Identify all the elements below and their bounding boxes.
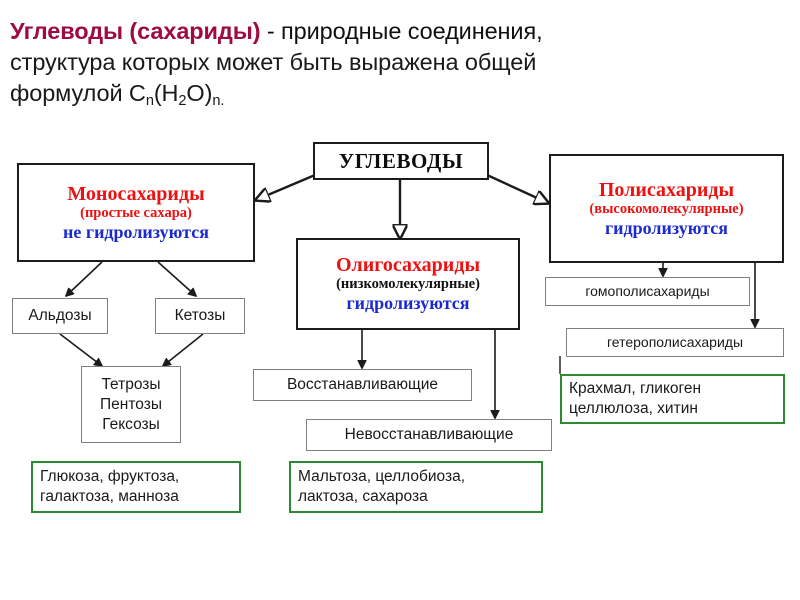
examples-oligosaccharides[interactable]: Мальтоза, целлобиоза, лактоза, сахароза bbox=[289, 461, 543, 513]
node-heteropolysaccharides[interactable]: гетерополисахариды bbox=[566, 328, 784, 357]
node-aldoses-label: Альдозы bbox=[28, 306, 91, 326]
formula-sub-n1: n bbox=[146, 93, 154, 109]
node-mono-title: Моносахариды bbox=[67, 183, 204, 205]
node-tetrose-pentose-hexose[interactable]: Тетрозы Пентозы Гексозы bbox=[81, 366, 181, 443]
node-oligosaccharides[interactable]: Олигосахариды (низкомолекулярные) гидрол… bbox=[296, 238, 520, 330]
formula-mid-1: (H bbox=[154, 80, 179, 106]
formula-sub-n2: n. bbox=[212, 93, 224, 109]
title-body-2: структура которых может быть выражена об… bbox=[10, 47, 792, 78]
page-title: Углеводы (сахариды) - природные соединен… bbox=[10, 16, 792, 113]
link-root-to-poly bbox=[487, 175, 548, 203]
node-hexose-label: Гексозы bbox=[102, 415, 160, 435]
node-oligo-subtitle: (низкомолекулярные) bbox=[336, 276, 480, 293]
formula-sub-2: 2 bbox=[178, 93, 186, 109]
title-keyword: Углеводы (сахариды) bbox=[10, 18, 260, 44]
examples-oligo-line-1: Мальтоза, целлобиоза, bbox=[298, 467, 465, 487]
node-mono-subtitle: (простые сахара) bbox=[80, 205, 192, 222]
link-aldozy-to-tetro bbox=[60, 334, 102, 366]
node-oligo-title: Олигосахариды bbox=[336, 254, 480, 276]
node-ketoses-label: Кетозы bbox=[175, 306, 226, 326]
examples-poly-line-2: целлюлоза, хитин bbox=[569, 399, 698, 419]
node-carbohydrates-root[interactable]: УГЛЕВОДЫ bbox=[313, 142, 489, 180]
examples-monosaccharides[interactable]: Глюкоза, фруктоза, галактоза, манноза bbox=[31, 461, 241, 513]
node-homopolysaccharides-label: гомополисахариды bbox=[585, 282, 709, 301]
node-monosaccharides[interactable]: Моносахариды (простые сахара) не гидроли… bbox=[17, 163, 255, 262]
node-ketoses[interactable]: Кетозы bbox=[155, 298, 245, 334]
title-body-1: - природные соединения, bbox=[260, 18, 542, 44]
node-non-reducing[interactable]: Невосстанавливающие bbox=[306, 419, 552, 451]
link-mono-to-aldozy bbox=[66, 262, 102, 296]
examples-mono-line-1: Глюкоза, фруктоза, bbox=[40, 467, 179, 487]
examples-mono-line-2: галактоза, манноза bbox=[40, 487, 179, 507]
examples-polysaccharides[interactable]: Крахмал, гликоген целлюлоза, хитин bbox=[560, 374, 785, 424]
node-poly-subtitle: (высокомолекулярные) bbox=[589, 201, 743, 218]
node-reducing[interactable]: Восстанавливающие bbox=[253, 369, 472, 401]
node-poly-hydrolysis: гидролизуются bbox=[605, 218, 728, 239]
node-homopolysaccharides[interactable]: гомополисахариды bbox=[545, 277, 750, 306]
node-non-reducing-label: Невосстанавливающие bbox=[345, 425, 514, 445]
title-formula-line: формулой Cn(H2O)n. bbox=[10, 78, 792, 113]
formula-mid-2: O) bbox=[186, 80, 212, 106]
node-aldoses[interactable]: Альдозы bbox=[12, 298, 108, 334]
node-tetrose-label: Тетрозы bbox=[101, 375, 160, 395]
link-ketozy-to-tetro bbox=[163, 334, 203, 366]
node-polysaccharides[interactable]: Полисахариды (высокомолекулярные) гидрол… bbox=[549, 154, 784, 263]
link-root-to-mono bbox=[256, 175, 315, 200]
examples-poly-line-1: Крахмал, гликоген bbox=[569, 379, 701, 399]
node-root-label: УГЛЕВОДЫ bbox=[339, 149, 463, 174]
node-reducing-label: Восстанавливающие bbox=[287, 375, 438, 395]
node-oligo-hydrolysis: гидролизуются bbox=[346, 293, 469, 314]
node-poly-title: Полисахариды bbox=[599, 179, 734, 201]
formula-prefix: формулой C bbox=[10, 80, 146, 106]
node-mono-hydrolysis: не гидролизуются bbox=[63, 222, 209, 243]
link-mono-to-ketozy bbox=[158, 262, 196, 296]
node-pentose-label: Пентозы bbox=[100, 395, 162, 415]
slide-canvas: Углеводы (сахариды) - природные соединен… bbox=[0, 0, 800, 600]
examples-oligo-line-2: лактоза, сахароза bbox=[298, 487, 428, 507]
node-heteropolysaccharides-label: гетерополисахариды bbox=[607, 333, 743, 352]
